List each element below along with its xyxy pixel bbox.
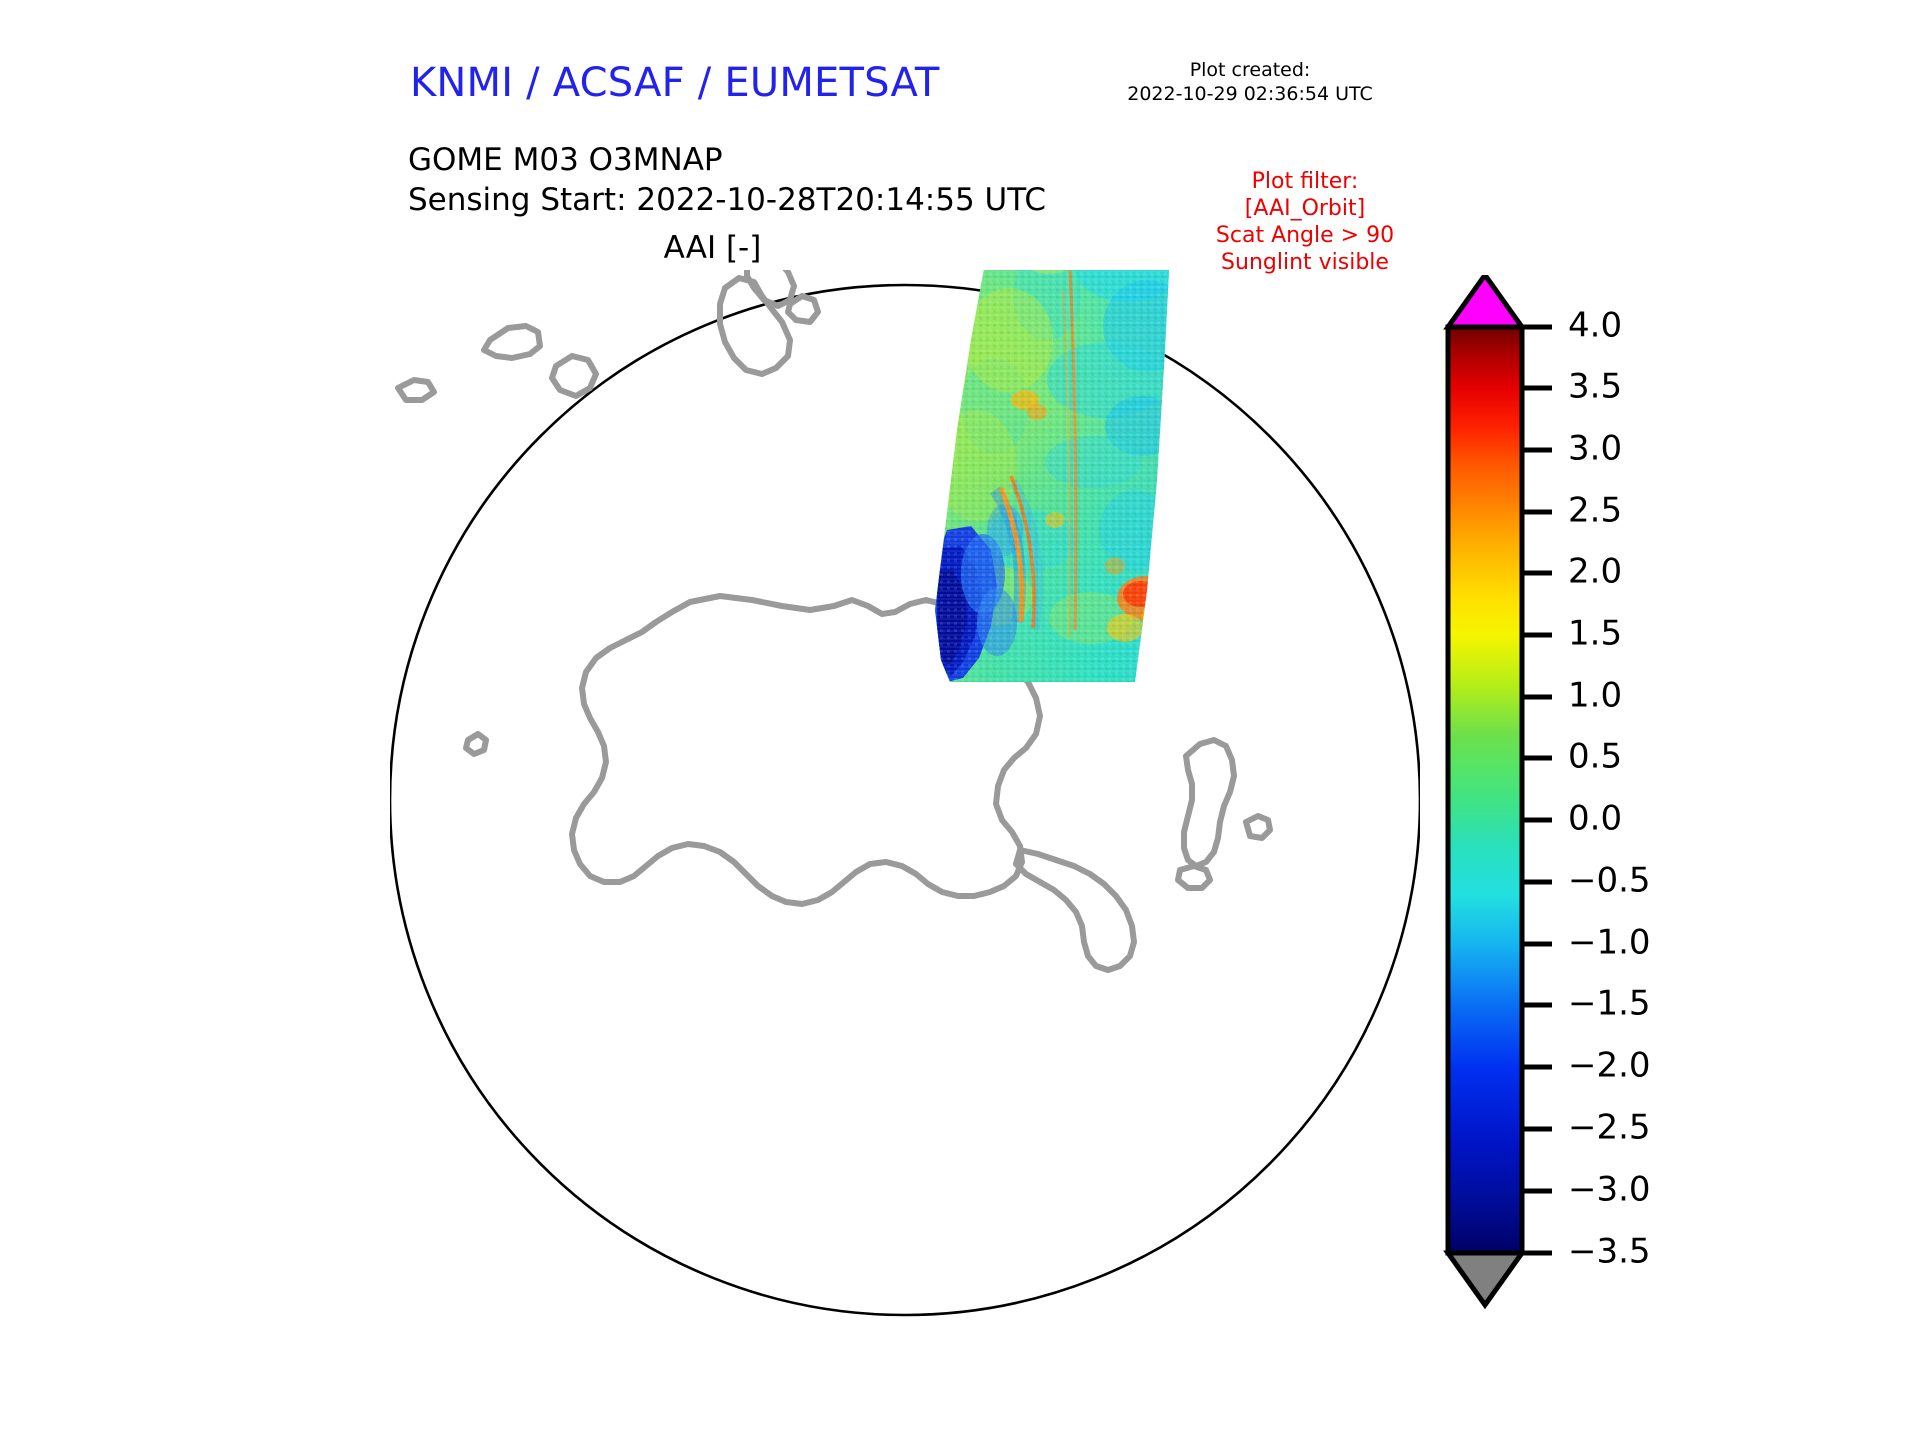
plot-filter-line-0: Plot filter: xyxy=(1140,168,1470,195)
colorbar-label-1.5: 1.5 xyxy=(1568,614,1622,654)
plot-filter-line-2: Scat Angle > 90 xyxy=(1140,222,1470,249)
colorbar-over-arrow xyxy=(1448,275,1522,327)
colorbar-label-2.0: 2.0 xyxy=(1568,552,1622,592)
colorbar-label-neg0.5: −0.5 xyxy=(1568,861,1651,901)
colorbar-label-neg1.5: −1.5 xyxy=(1568,984,1651,1024)
colorbar-label-neg2.0: −2.0 xyxy=(1568,1046,1651,1086)
colorbar-canvas: 4.0 3.5 3.0 2.5 2.0 1.5 1.0 0.5 0.0 −0.5… xyxy=(1432,275,1732,1315)
coastline-australia-limb xyxy=(484,326,540,358)
plot-filter-block: Plot filter: [AAI_Orbit] Scat Angle > 90… xyxy=(1140,168,1470,276)
plot-created-block: Plot created: 2022-10-29 02:36:54 UTC xyxy=(1060,58,1440,106)
plot-title-block: GOME M03 O3MNAP Sensing Start: 2022-10-2… xyxy=(408,140,1046,220)
polar-map-plot xyxy=(390,270,1420,1330)
organisation-header: KNMI / ACSAF / EUMETSAT xyxy=(410,60,940,106)
colorbar-gradient-bar xyxy=(1448,327,1522,1253)
colorbar-label-3.0: 3.0 xyxy=(1568,429,1622,469)
colorbar-label-neg1.0: −1.0 xyxy=(1568,923,1651,963)
colorbar-label-0.5: 0.5 xyxy=(1568,737,1622,777)
colorbar-label-4.0: 4.0 xyxy=(1568,306,1622,346)
map-canvas xyxy=(390,270,1420,1330)
plot-filter-line-1: [AAI_Orbit] xyxy=(1140,195,1470,222)
colorbar-label-neg2.5: −2.5 xyxy=(1568,1108,1651,1148)
colorbar-label-3.5: 3.5 xyxy=(1568,367,1622,407)
colorbar-ticks xyxy=(1522,327,1552,1253)
coastline-limb-fragment xyxy=(398,380,434,400)
colorbar-tick-labels: 4.0 3.5 3.0 2.5 2.0 1.5 1.0 0.5 0.0 −0.5… xyxy=(1568,306,1651,1272)
colorbar-label-1.0: 1.0 xyxy=(1568,676,1622,716)
colorbar-label-0.0: 0.0 xyxy=(1568,799,1622,839)
sensing-start-title: Sensing Start: 2022-10-28T20:14:55 UTC xyxy=(408,180,1046,220)
aai-colorbar: 4.0 3.5 3.0 2.5 2.0 1.5 1.0 0.5 0.0 −0.5… xyxy=(1432,275,1732,1315)
plot-created-timestamp: 2022-10-29 02:36:54 UTC xyxy=(1060,82,1440,106)
colorbar-under-arrow xyxy=(1448,1253,1522,1305)
colorbar-label-2.5: 2.5 xyxy=(1568,491,1622,531)
globe-outline-circle xyxy=(390,285,1420,1315)
plot-created-label: Plot created: xyxy=(1060,58,1440,82)
coastline-new-zealand-north xyxy=(747,270,794,306)
colorbar-label-neg3.5: −3.5 xyxy=(1568,1232,1651,1272)
colorbar-label-neg3.0: −3.0 xyxy=(1568,1170,1651,1210)
instrument-product-title: GOME M03 O3MNAP xyxy=(408,140,1046,180)
coastline-island-tasmania xyxy=(552,356,596,396)
